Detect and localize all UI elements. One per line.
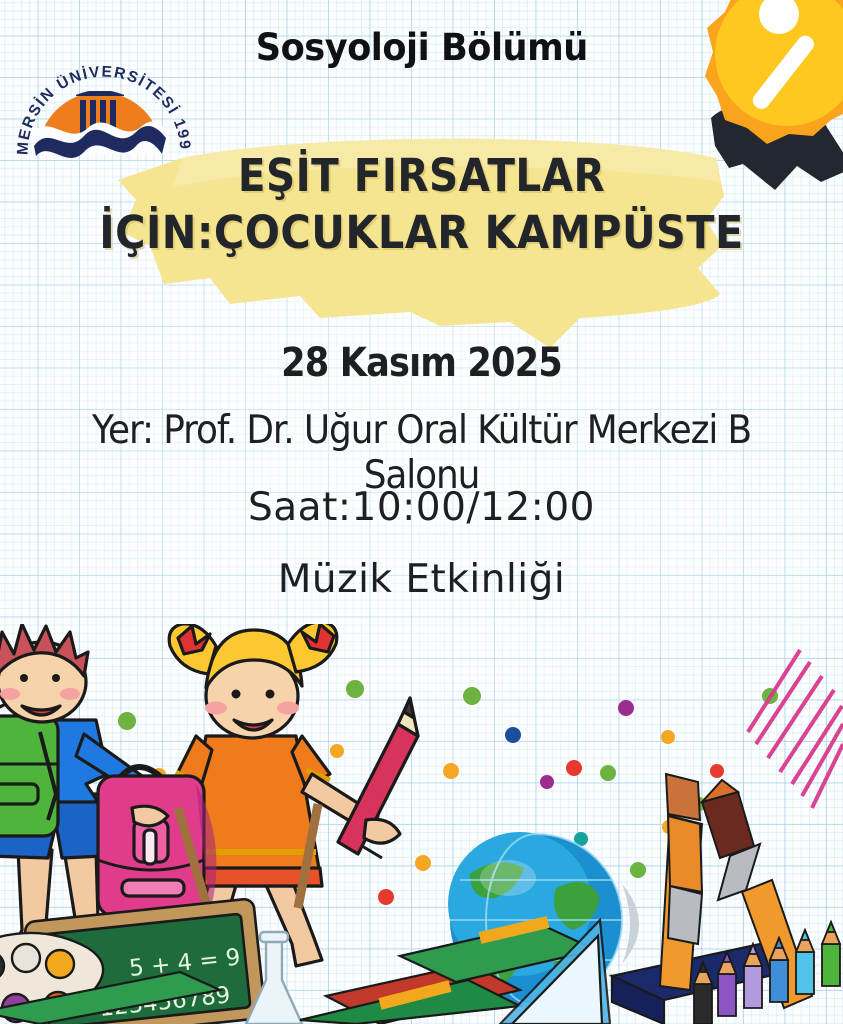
headline-line-2: İÇİN:ÇOCUKLAR KAMPÜSTE bbox=[34, 209, 810, 258]
poster-headline: EŞİT FIRSATLAR İÇİN:ÇOCUKLAR KAMPÜSTE bbox=[0, 152, 843, 257]
headline-line-1: EŞİT FIRSATLAR bbox=[42, 152, 801, 201]
event-time: Saat:10:00/12:00 bbox=[0, 485, 843, 530]
pink-scribble bbox=[748, 650, 843, 808]
school-illustration: 5 + 4 = 9 123456789 bbox=[0, 624, 843, 1024]
department-title: Sosyoloji Bölümü bbox=[255, 26, 587, 69]
event-poster: MERSİN ÜNİVERSİTESİ 1992 Sosyoloji Bölüm… bbox=[0, 0, 843, 1024]
event-type: Müzik Etkinliği bbox=[0, 557, 843, 602]
event-date: 28 Kasım 2025 bbox=[51, 340, 793, 386]
